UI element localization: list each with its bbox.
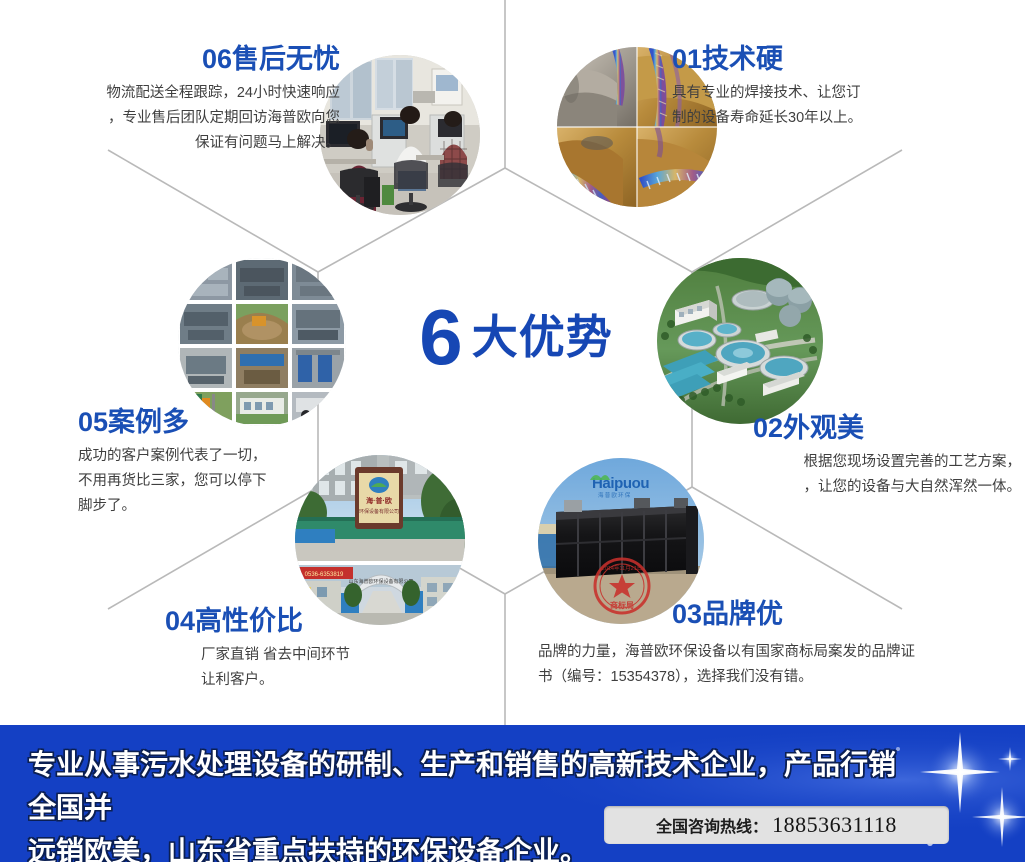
feature-06-desc-line-3: 保证有问题马上解决。 xyxy=(10,131,340,156)
infographic-canvas: 6 大优势 xyxy=(0,0,1025,862)
feature-03-desc-line-2: 书（编号：15354378），选择我们没有错。 xyxy=(538,665,1018,690)
feature-04-title: 04高性价比 xyxy=(165,607,465,637)
svg-text:海·普·欧: 海·普·欧 xyxy=(366,496,392,505)
feature-01: 01技术硬 具有专业的焊接技术、让您订 制的设备寿命延长30年以上。 xyxy=(672,45,1012,131)
feature-05-desc-line-1: 成功的客户案例代表了一切， xyxy=(78,444,358,469)
wastewater-plant-aerial-photo xyxy=(657,258,823,424)
office-workers-computers-photo xyxy=(320,55,480,215)
svg-text:2014年11月21日: 2014年11月21日 xyxy=(602,564,643,572)
svg-text:Haipuou: Haipuou xyxy=(592,475,649,492)
feature-05-title: 05案例多 xyxy=(78,408,358,438)
feature-06-title: 06售后无忧 xyxy=(10,45,340,75)
feature-01-desc-line-1: 具有专业的焊接技术、让您订 xyxy=(672,81,1012,106)
case-photo-grid-collage xyxy=(178,258,346,426)
photo-circle-06 xyxy=(320,55,480,215)
feature-01-desc-line-2: 制的设备寿命延长30年以上。 xyxy=(672,106,1012,131)
svg-text:海普欧环保: 海普欧环保 xyxy=(598,491,632,499)
feature-03-desc-line-1: 品牌的力量，海普欧环保设备以有国家商标局案发的品牌证 xyxy=(538,640,1018,665)
feature-03-title: 03品牌优 xyxy=(672,600,1017,630)
feature-04-desc-line-1: 厂家直销 省去中间环节 xyxy=(201,643,465,668)
feature-02-desc: 根据您现场设置完善的工艺方案， ，让您的设备与大自然浑然一体。 xyxy=(753,450,1021,501)
hotline-number: 18853631118 xyxy=(772,812,897,838)
center-number: 6 xyxy=(419,298,461,376)
feature-05-desc-line-2: 不用再货比三家，您可以停下 xyxy=(78,469,358,494)
feature-02-title: 02外观美 xyxy=(753,414,1021,444)
feature-05-desc-line-3: 脚步了。 xyxy=(78,494,358,519)
hotline-box[interactable]: 全国咨询热线： 18853631118 xyxy=(604,806,949,844)
banner-slogan: 专业从事污水处理设备的研制、生产和销售的高新技术企业，产品行销全国并 远销欧美，… xyxy=(28,743,908,862)
feature-04-desc-line-2: 让利客户。 xyxy=(201,668,465,693)
feature-03: 03品牌优 xyxy=(672,600,1017,630)
feature-04-desc: 厂家直销 省去中间环节 让利客户。 xyxy=(165,643,465,694)
feature-06-desc-line-2: ，专业售后团队定期回访海普欧向您 xyxy=(10,106,340,131)
feature-06: 06售后无忧 物流配送全程跟踪，24小时快速响应 ，专业售后团队定期回访海普欧向… xyxy=(10,45,340,157)
svg-text:环保设备有限公司: 环保设备有限公司 xyxy=(359,508,399,515)
feature-06-desc: 物流配送全程跟踪，24小时快速响应 ，专业售后团队定期回访海普欧向您 保证有问题… xyxy=(10,81,340,157)
feature-03-description: 品牌的力量，海普欧环保设备以有国家商标局案发的品牌证 书（编号：15354378… xyxy=(538,640,1018,691)
feature-02-desc-line-2: ，让您的设备与大自然浑然一体。 xyxy=(753,475,1021,500)
feature-06-desc-line-1: 物流配送全程跟踪，24小时快速响应 xyxy=(10,81,340,106)
feature-04: 04高性价比 厂家直销 省去中间环节 让利客户。 xyxy=(165,607,465,693)
hotline-label: 全国咨询热线： xyxy=(656,813,768,837)
svg-text:0536-6353819: 0536-6353819 xyxy=(305,572,344,578)
feature-05-desc: 成功的客户案例代表了一切， 不用再货比三家，您可以停下 脚步了。 xyxy=(78,444,358,520)
feature-02-desc-line-1: 根据您现场设置完善的工艺方案， xyxy=(753,450,1021,475)
center-title: 6 大优势 xyxy=(386,292,646,382)
photo-circle-02 xyxy=(657,258,823,424)
svg-text:山东海普欧环保设备有限公司: 山东海普欧环保设备有限公司 xyxy=(348,578,413,585)
center-label-text: 大优势 xyxy=(472,314,613,360)
feature-01-desc: 具有专业的焊接技术、让您订 制的设备寿命延长30年以上。 xyxy=(672,81,1012,132)
feature-02: 02外观美 根据您现场设置完善的工艺方案， ，让您的设备与大自然浑然一体。 xyxy=(753,414,1021,500)
svg-text:商标局: 商标局 xyxy=(610,600,634,610)
feature-05: 05案例多 成功的客户案例代表了一切， 不用再货比三家，您可以停下 脚步了。 xyxy=(78,408,358,520)
feature-01-title: 01技术硬 xyxy=(672,45,1012,75)
photo-circle-05 xyxy=(178,258,346,426)
